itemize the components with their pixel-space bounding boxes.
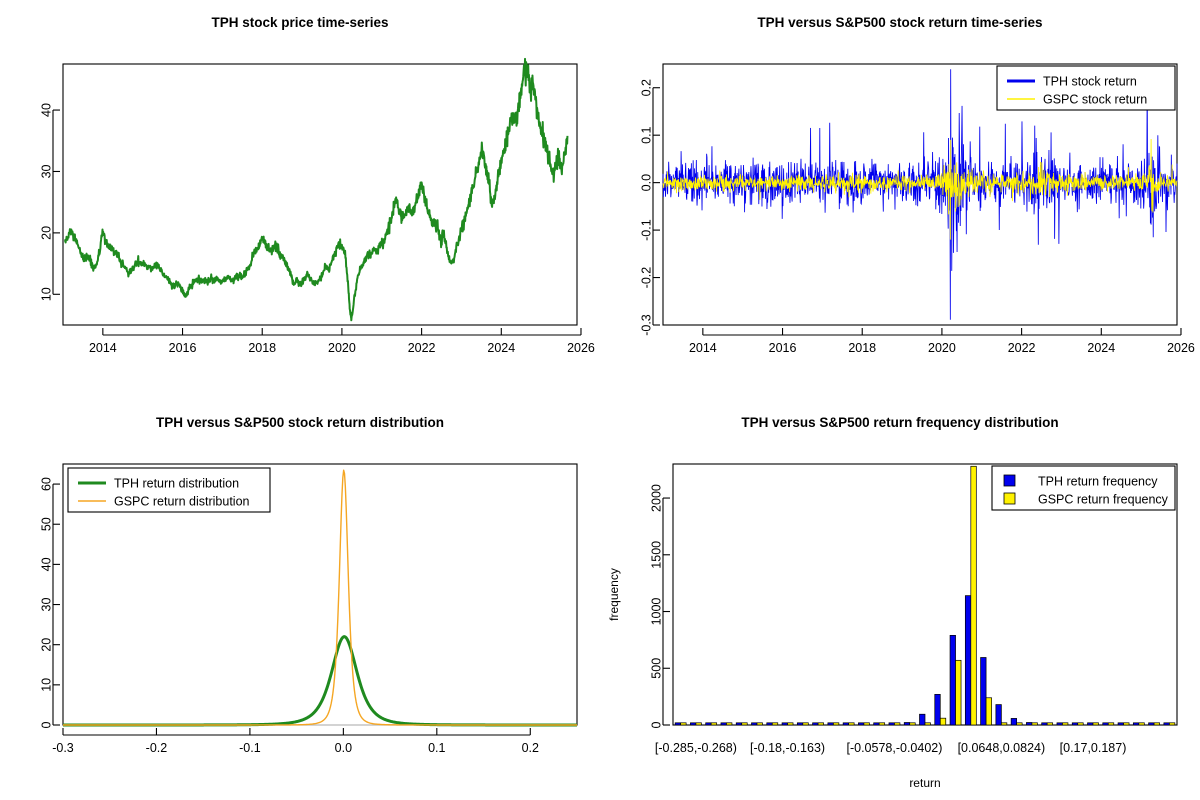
- x-axis-tick-label: 2018: [848, 341, 876, 355]
- bar-gspc-frequency: [696, 723, 702, 725]
- chart-legend: TPH return frequencyGSPC return frequenc…: [992, 466, 1175, 510]
- y-axis-tick-label: 30: [39, 164, 53, 178]
- x-axis-tick-label: 0.2: [522, 741, 539, 755]
- panel-title: TPH versus S&P500 stock return distribut…: [156, 415, 444, 430]
- bar-tph-frequency: [813, 723, 819, 725]
- x-axis-tick-label: 2020: [928, 341, 956, 355]
- y-axis-tick-label: 40: [39, 103, 53, 117]
- y-axis-tick-label: 1500: [649, 541, 663, 569]
- bar-tph-frequency: [1118, 723, 1124, 725]
- bar-tph-frequency: [782, 723, 788, 725]
- x-axis-tick-label: 0.0: [335, 741, 352, 755]
- series-line-tph-density: [63, 637, 577, 725]
- bar-gspc-frequency: [940, 718, 946, 725]
- x-axis-tick-label: 2016: [169, 341, 197, 355]
- bar-tph-frequency: [843, 723, 849, 725]
- bar-tph-frequency: [1164, 723, 1170, 725]
- bar-tph-frequency: [1103, 723, 1109, 725]
- y-axis-tick-label: 0.0: [639, 174, 653, 191]
- x-axis-tick-label: [-0.285,-0.268): [655, 741, 737, 755]
- bar-tph-frequency: [706, 723, 712, 725]
- bar-tph-frequency: [797, 723, 803, 725]
- bar-gspc-frequency: [986, 698, 992, 725]
- bar-gspc-frequency: [1047, 723, 1053, 725]
- y-axis-tick-label: 10: [39, 678, 53, 692]
- bar-tph-frequency: [675, 723, 681, 725]
- x-axis-tick-label: 2024: [1087, 341, 1115, 355]
- y-axis-tick-label: 50: [39, 517, 53, 531]
- y-axis-tick-label: 30: [39, 598, 53, 612]
- legend-label: TPH return frequency: [1038, 475, 1158, 489]
- bar-gspc-frequency: [894, 723, 900, 725]
- bar-tph-frequency: [1088, 723, 1094, 725]
- y-axis-tick-label: 500: [649, 658, 663, 679]
- bar-tph-frequency: [1149, 723, 1155, 725]
- x-axis-tick-label: 2014: [89, 341, 117, 355]
- bar-tph-frequency: [1072, 723, 1078, 725]
- y-axis-title: frequency: [607, 568, 621, 621]
- panel-title: TPH stock price time-series: [211, 15, 388, 30]
- x-axis-tick-label: 2016: [769, 341, 797, 355]
- legend-label: GSPC stock return: [1043, 93, 1147, 107]
- y-axis-tick-label: 20: [39, 638, 53, 652]
- x-axis-tick-label: [-0.18,-0.163): [750, 741, 825, 755]
- x-axis-tick-label: 2014: [689, 341, 717, 355]
- legend-label: GSPC return frequency: [1038, 493, 1169, 507]
- bar-gspc-frequency: [1093, 723, 1099, 725]
- bar-gspc-frequency: [910, 723, 916, 725]
- bar-gspc-frequency: [971, 466, 977, 725]
- x-axis-tick-label: [0.0648,0.0824): [958, 741, 1046, 755]
- y-axis-tick-label: 0: [39, 721, 53, 728]
- bar-gspc-frequency: [1001, 723, 1007, 725]
- bar-tph-frequency: [828, 723, 834, 725]
- x-axis-tick-label: -0.3: [52, 741, 74, 755]
- bar-gspc-frequency: [772, 723, 778, 725]
- bar-tph-frequency: [721, 723, 727, 725]
- y-axis-tick-label: 0.1: [639, 126, 653, 143]
- y-axis-tick-label: 1000: [649, 598, 663, 626]
- legend-label: TPH stock return: [1043, 75, 1137, 89]
- panel-tph-price-timeseries: TPH stock price time-series1020304020142…: [0, 0, 600, 400]
- bar-gspc-frequency: [1017, 723, 1023, 725]
- bar-gspc-frequency: [1062, 723, 1068, 725]
- panel-tph-gspc-return-frequency: TPH versus S&P500 return frequency distr…: [600, 400, 1200, 800]
- bar-tph-frequency: [889, 723, 895, 725]
- legend-swatch: [1004, 475, 1015, 486]
- bar-tph-frequency: [920, 714, 926, 725]
- x-axis-tick-label: 2026: [1167, 341, 1195, 355]
- x-axis-tick-label: [-0.0578,-0.0402): [847, 741, 943, 755]
- bar-tph-frequency: [981, 657, 987, 725]
- x-axis-tick-label: 2022: [1008, 341, 1036, 355]
- x-axis-tick-label: 2018: [248, 341, 276, 355]
- x-axis-tick-label: -0.2: [146, 741, 168, 755]
- x-axis-tick-label: 0.1: [428, 741, 445, 755]
- bar-gspc-frequency: [726, 723, 732, 725]
- panel-tph-gspc-return-density: TPH versus S&P500 stock return distribut…: [0, 400, 600, 800]
- bar-gspc-frequency: [833, 723, 839, 725]
- bar-tph-frequency: [1011, 718, 1017, 725]
- bar-tph-frequency: [1057, 723, 1063, 725]
- bar-gspc-frequency: [864, 723, 870, 725]
- bar-gspc-frequency: [1154, 723, 1160, 725]
- chart-legend: TPH return distributionGSPC return distr…: [68, 468, 270, 512]
- bar-tph-frequency: [904, 723, 910, 726]
- bar-tph-frequency: [1042, 723, 1048, 725]
- bar-tph-frequency: [1133, 723, 1139, 725]
- y-axis-tick-label: 2000: [649, 484, 663, 512]
- y-axis-tick-label: 0: [649, 721, 663, 728]
- bar-gspc-frequency: [742, 723, 748, 725]
- y-axis-tick-label: 0.2: [639, 79, 653, 96]
- y-axis-tick-label: 40: [39, 557, 53, 571]
- bar-gspc-frequency: [1108, 723, 1114, 725]
- y-axis-tick-label: 20: [39, 226, 53, 240]
- bar-gspc-frequency: [925, 723, 931, 725]
- y-axis-tick-label: 60: [39, 477, 53, 491]
- plot-box: [63, 64, 577, 325]
- bar-tph-frequency: [1026, 723, 1032, 726]
- panel-title: TPH versus S&P500 stock return time-seri…: [757, 15, 1042, 30]
- bar-tph-frequency: [752, 723, 758, 725]
- bar-gspc-frequency: [711, 723, 717, 725]
- x-axis-tick-label: 2024: [487, 341, 515, 355]
- bar-gspc-frequency: [803, 723, 809, 725]
- figure-canvas: TPH stock price time-series1020304020142…: [0, 0, 1200, 800]
- bar-tph-frequency: [767, 723, 773, 725]
- chart-legend: TPH stock returnGSPC stock return: [997, 66, 1175, 110]
- x-axis-tick-label: 2020: [328, 341, 356, 355]
- legend-swatch: [1004, 493, 1015, 504]
- bar-gspc-frequency: [818, 723, 824, 725]
- bar-gspc-frequency: [1078, 723, 1084, 725]
- panel-tph-gspc-return-timeseries: TPH versus S&P500 stock return time-seri…: [600, 0, 1200, 400]
- bar-gspc-frequency: [1124, 723, 1130, 725]
- bar-gspc-frequency: [1139, 723, 1145, 725]
- series-line-tph-price: [65, 59, 567, 320]
- y-axis-tick-label: -0.3: [639, 314, 653, 336]
- bar-tph-frequency: [935, 694, 941, 725]
- bar-gspc-frequency: [956, 660, 962, 725]
- legend-label: GSPC return distribution: [114, 495, 250, 509]
- x-axis-tick-label: -0.1: [239, 741, 261, 755]
- bar-tph-frequency: [690, 723, 696, 725]
- y-axis-tick-label: 10: [39, 287, 53, 301]
- x-axis-tick-label: 2026: [567, 341, 595, 355]
- x-axis-tick-label: 2022: [408, 341, 436, 355]
- x-axis-title: return: [909, 776, 940, 790]
- bar-gspc-frequency: [1169, 723, 1175, 725]
- bar-gspc-frequency: [1032, 723, 1038, 725]
- bar-tph-frequency: [858, 723, 864, 725]
- y-axis-tick-label: -0.1: [639, 219, 653, 241]
- bar-tph-frequency: [950, 635, 956, 725]
- bar-tph-frequency: [736, 723, 742, 725]
- y-axis-tick-label: -0.2: [639, 267, 653, 289]
- x-axis-tick-label: [0.17,0.187): [1060, 741, 1127, 755]
- bar-gspc-frequency: [757, 723, 763, 725]
- bar-gspc-frequency: [681, 723, 687, 725]
- bar-tph-frequency: [874, 723, 880, 725]
- bar-tph-frequency: [965, 596, 971, 725]
- legend-label: TPH return distribution: [114, 477, 239, 491]
- bar-tph-frequency: [996, 705, 1002, 725]
- bar-gspc-frequency: [788, 723, 794, 725]
- panel-title: TPH versus S&P500 return frequency distr…: [741, 415, 1058, 430]
- bar-gspc-frequency: [879, 723, 885, 725]
- bar-gspc-frequency: [849, 723, 855, 725]
